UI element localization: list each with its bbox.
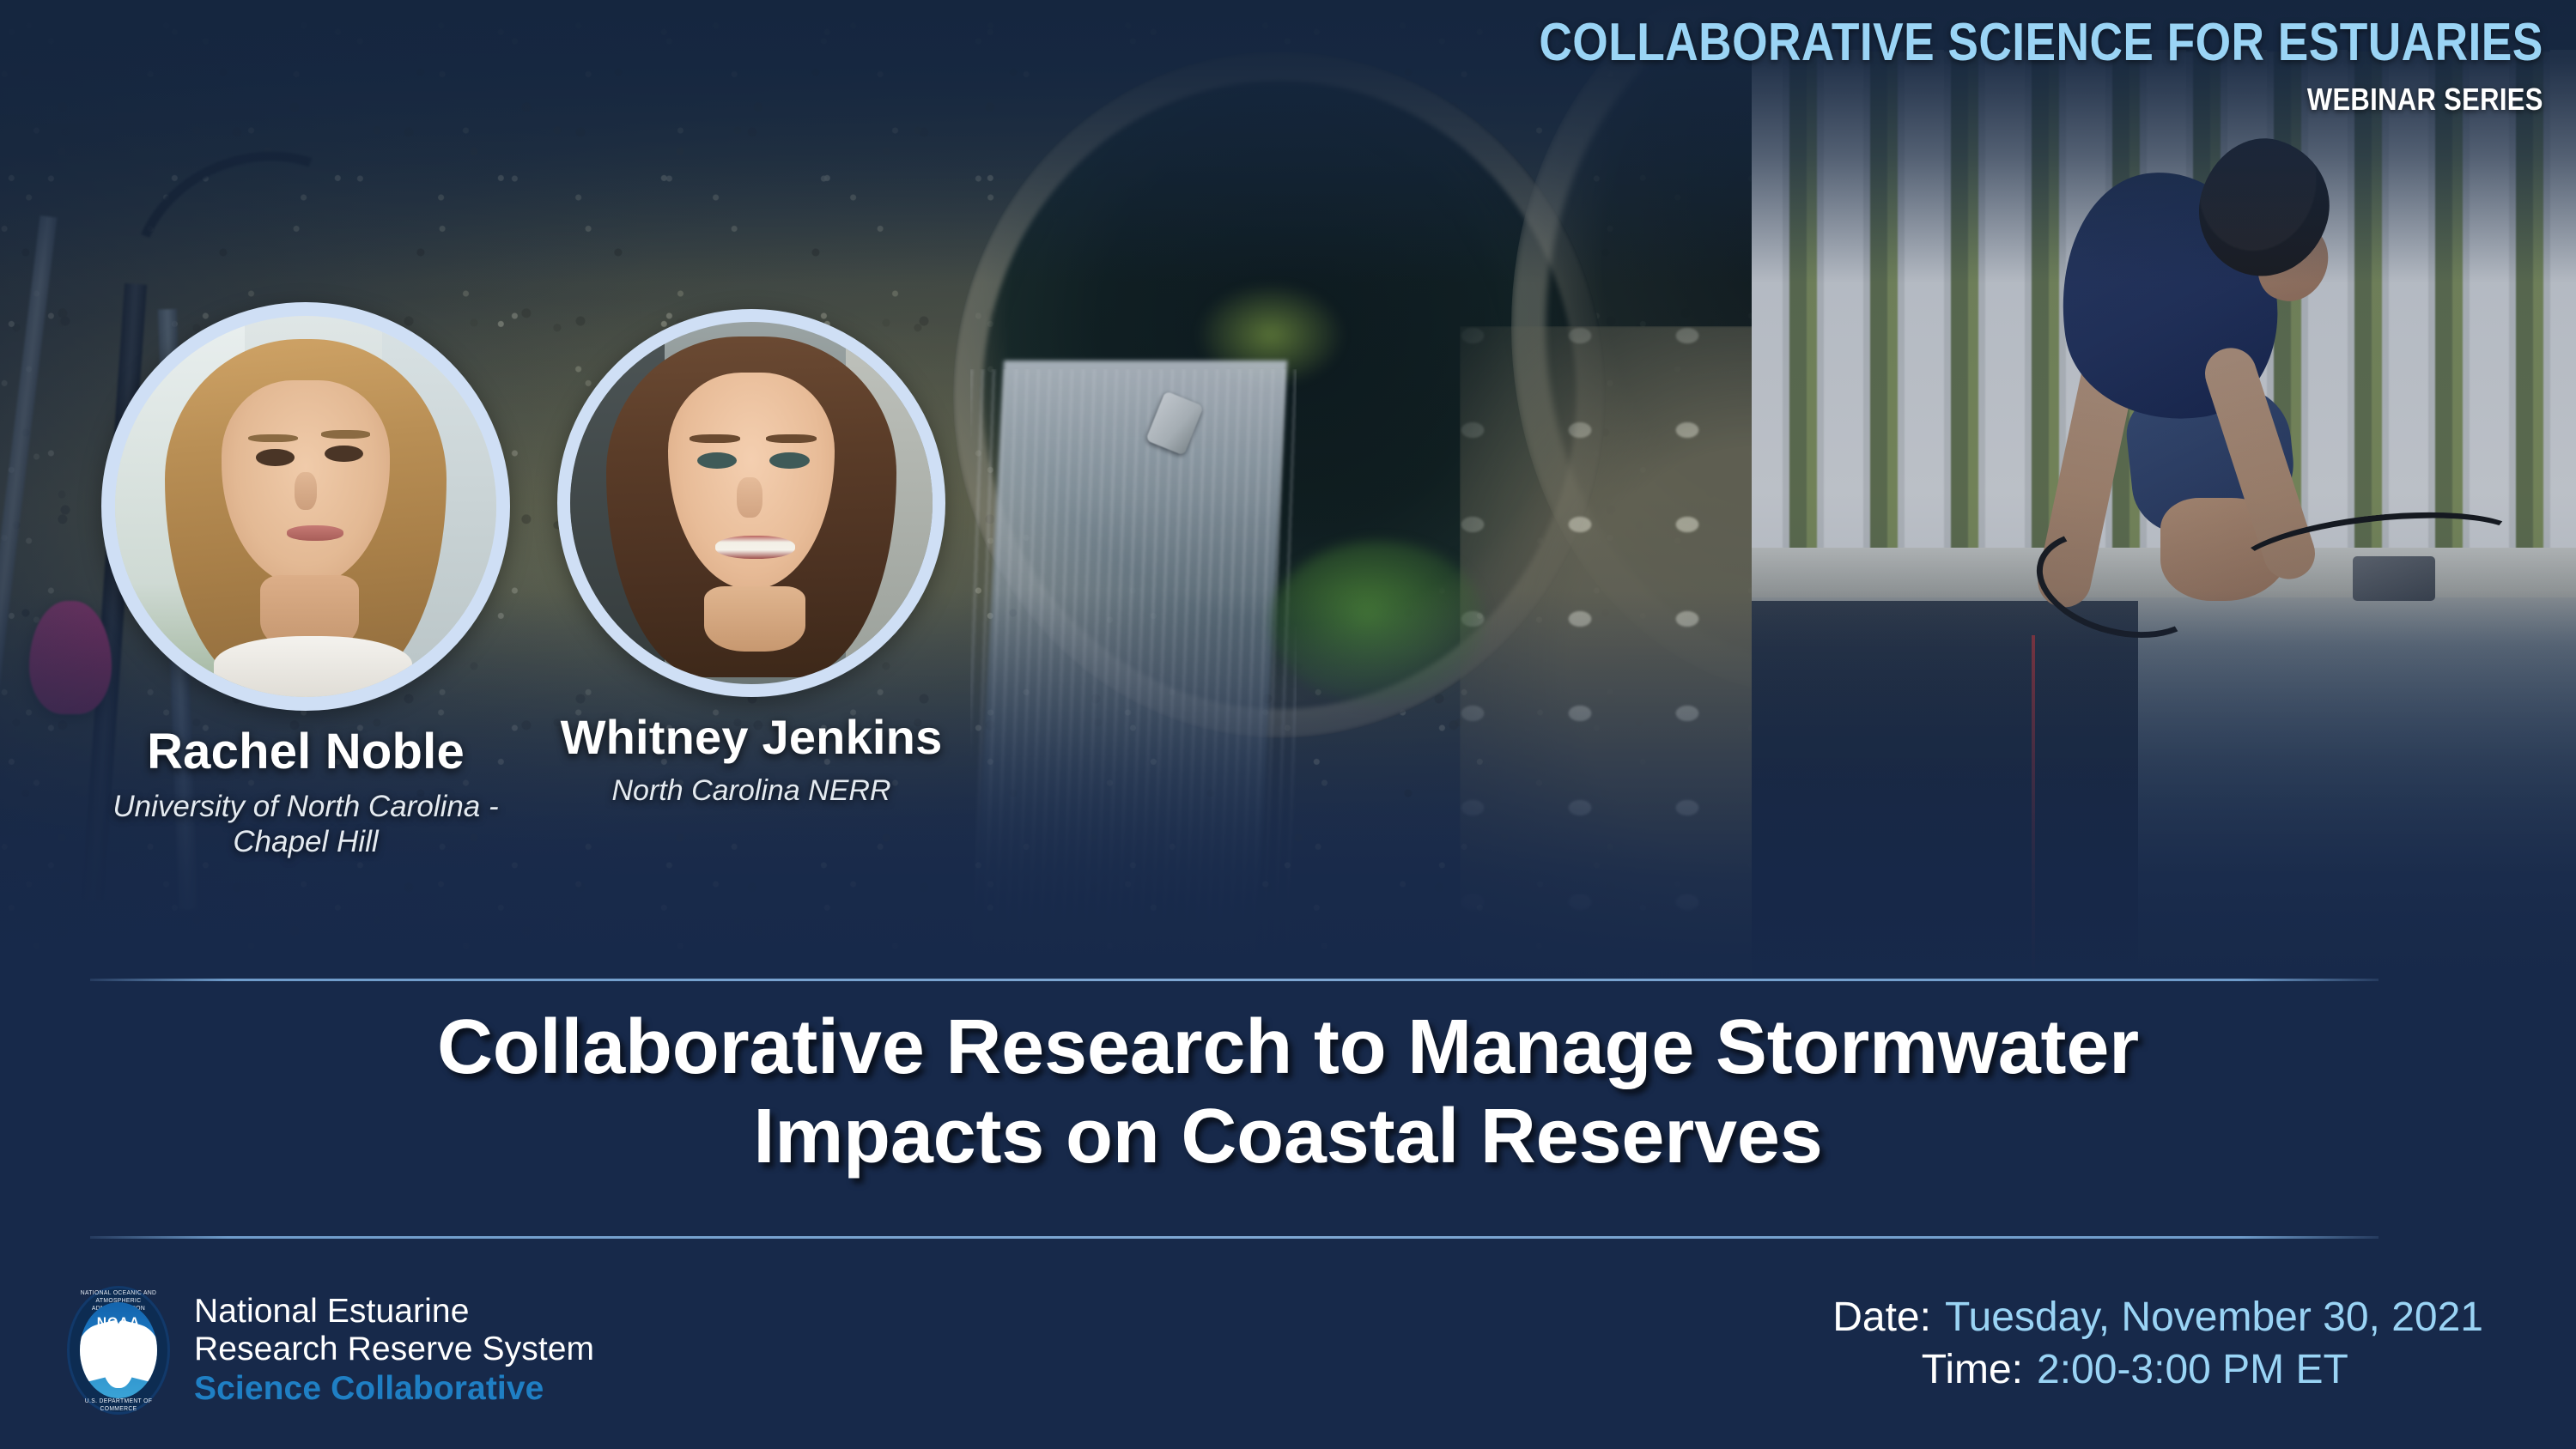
series-title: COLLABORATIVE SCIENCE FOR ESTUARIES xyxy=(1540,12,2543,73)
speakers-row: Rachel Noble University of North Carolin… xyxy=(101,302,953,860)
speaker-affiliation: University of North Carolina - Chapel Hi… xyxy=(101,789,510,860)
title-line-1: Collaborative Research to Manage Stormwa… xyxy=(0,1003,2576,1092)
org-name: National Estuarine Research Reserve Syst… xyxy=(194,1293,594,1408)
portrait-shirt xyxy=(214,636,412,697)
avatar-wrap-1 xyxy=(550,309,953,697)
seal-bird-body xyxy=(102,1347,135,1388)
portrait-brow-right xyxy=(766,434,817,443)
portrait-mouth xyxy=(287,525,344,541)
avatar-wrap-0 xyxy=(101,302,510,711)
portrait-image-1 xyxy=(570,322,933,684)
webinar-poster: COLLABORATIVE SCIENCE FOR ESTUARIES WEBI… xyxy=(0,0,2576,1449)
portrait-neck xyxy=(704,586,805,652)
divider-top xyxy=(90,979,2379,981)
portrait-brow-left xyxy=(690,434,740,443)
footer: NATIONAL OCEANIC AND ATMOSPHERIC ADMINIS… xyxy=(0,1246,2576,1449)
seal-inner-circle: NOAA xyxy=(80,1302,157,1398)
portrait-brow-left xyxy=(248,434,298,443)
webinar-title: Collaborative Research to Manage Stormwa… xyxy=(0,1003,2576,1182)
seal-ring-text-bottom: U.S. DEPARTMENT OF COMMERCE xyxy=(72,1397,165,1412)
time-value: 2:00-3:00 PM ET xyxy=(2037,1343,2483,1396)
portrait-eye-right xyxy=(769,452,809,469)
portrait-image-0 xyxy=(115,316,496,697)
speaker-name: Rachel Noble xyxy=(101,723,510,780)
date-row: Date: Tuesday, November 30, 2021 xyxy=(1830,1291,2483,1343)
speaker-affiliation: North Carolina NERR xyxy=(550,773,953,808)
org-line-1: National Estuarine xyxy=(194,1293,594,1331)
speaker-card-1: Whitney Jenkins North Carolina NERR xyxy=(550,309,953,808)
speaker-name: Whitney Jenkins xyxy=(550,709,953,765)
event-datetime: Date: Tuesday, November 30, 2021 Time: 2… xyxy=(1830,1291,2483,1397)
series-subtitle: WEBINAR SERIES xyxy=(1540,82,2543,118)
noaa-seal-icon: NATIONAL OCEANIC AND ATMOSPHERIC ADMINIS… xyxy=(67,1286,170,1415)
time-label: Time: xyxy=(1922,1343,2023,1396)
portrait-nose xyxy=(295,472,318,510)
header-block: COLLABORATIVE SCIENCE FOR ESTUARIES WEBI… xyxy=(1376,12,2543,118)
avatar xyxy=(101,302,510,711)
title-line-2: Impacts on Coastal Reserves xyxy=(0,1092,2576,1181)
seal-noaa-text: NOAA xyxy=(83,1314,155,1331)
speaker-card-0: Rachel Noble University of North Carolin… xyxy=(101,302,510,860)
time-row: Time: 2:00-3:00 PM ET xyxy=(1830,1343,2483,1396)
portrait-nose xyxy=(737,477,762,517)
portrait-eye-left xyxy=(256,449,294,466)
org-line-2: Research Reserve System xyxy=(194,1331,594,1368)
portrait-brow-right xyxy=(321,430,371,439)
avatar xyxy=(557,309,945,697)
org-line-3: Science Collaborative xyxy=(194,1370,594,1408)
date-value: Tuesday, November 30, 2021 xyxy=(1945,1291,2483,1343)
brand-lockup: NATIONAL OCEANIC AND ATMOSPHERIC ADMINIS… xyxy=(67,1286,594,1415)
divider-bottom xyxy=(90,1236,2379,1239)
date-label: Date: xyxy=(1830,1291,1931,1343)
portrait-mouth xyxy=(715,536,795,559)
